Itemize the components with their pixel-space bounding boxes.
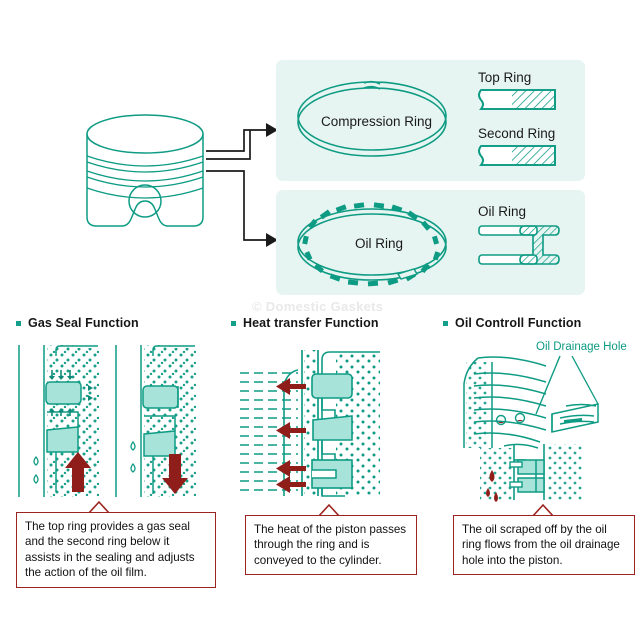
bullet-icon [16,321,21,326]
watermark: © Domestic Gaskets [252,299,383,314]
section-header-gas-seal: Gas Seal Function [16,316,139,330]
second-ring-cross-section [477,144,559,168]
section-header-heat-transfer: Heat transfer Function [231,316,379,330]
top-ring-label: Top Ring [478,70,531,85]
oil-ring-cross-section [477,222,563,272]
heat-transfer-diagram [240,342,420,504]
section-title: Heat transfer Function [243,316,379,330]
caption-heat-transfer: The heat of the piston passes through th… [245,515,417,575]
section-title: Oil Controll Function [455,316,581,330]
bullet-icon [443,321,448,326]
top-ring-cross-section [477,88,559,112]
compression-ring-label: Compression Ring [321,114,432,129]
section-title: Gas Seal Function [28,316,139,330]
oil-ring-section-label: Oil Ring [478,204,526,219]
connector-lines [206,128,284,256]
oil-ring-center-label: Oil Ring [355,236,403,251]
caption-oil-control: The oil scraped off by the oil ring flow… [453,515,635,575]
caption-gas-seal: The top ring provides a gas seal and the… [16,512,216,588]
section-header-oil-control: Oil Controll Function [443,316,581,330]
bullet-icon [231,321,236,326]
oil-drainage-hole-label: Oil Drainage Hole [536,341,627,353]
oil-control-diagram: Oil Drainage Hole [448,336,638,506]
second-ring-label: Second Ring [478,126,555,141]
diagram-root: Compression Ring Top Ring Second Ring [0,0,640,640]
gas-seal-diagram [16,342,216,504]
